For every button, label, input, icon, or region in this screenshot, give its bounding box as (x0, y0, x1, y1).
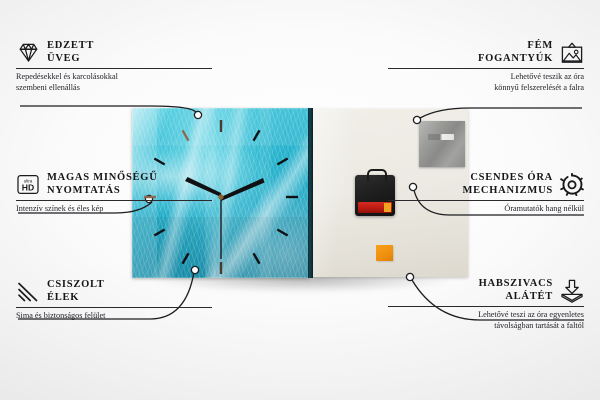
feature-silent-mechanism: CSENDES ÓRA MECHANIZMUS (388, 172, 584, 215)
feature-polished-edges: CSISZOLT ÉLEK Sima és biztonságos felüle… (16, 279, 212, 322)
glass-edge (308, 108, 313, 278)
feature-title: FÉM FOGANTYÚK (478, 40, 553, 65)
battery (358, 202, 392, 213)
feature-title: EDZETT ÜVEG (47, 40, 94, 65)
feature-title: CSENDES ÓRA MECHANIZMUS (462, 172, 553, 197)
feature-head: CSENDES ÓRA MECHANIZMUS (388, 172, 584, 200)
foam-pad (376, 245, 393, 261)
feature-foam-underlay: HABSZIVACS ALÁTÉT Lehetővé teszi az óra … (388, 278, 584, 331)
gear-icon (560, 173, 584, 197)
feature-head: FÉM FOGANTYÚK (388, 40, 584, 68)
diamond-icon (16, 41, 40, 65)
feature-head: EDZETT ÜVEG (16, 40, 212, 68)
feature-head: HABSZIVACS ALÁTÉT (388, 278, 584, 306)
ultra-hd-icon: ultra HD (16, 173, 40, 197)
feature-metal-handles: FÉM FOGANTYÚK Lehetővé teszik az óra kön… (388, 40, 584, 93)
glass-clock-face-panel (132, 108, 310, 278)
hanger-loop (367, 169, 387, 181)
polished-edges-icon (16, 280, 40, 304)
feature-head: CSISZOLT ÉLEK (16, 279, 212, 307)
feature-desc: Sima és biztonságos felület (16, 308, 212, 322)
picture-hanger-icon (560, 41, 584, 65)
infographic-canvas: EDZETT ÜVEG Repedésekkel és karcolásokka… (0, 0, 600, 400)
feature-desc: Óramutatók hang nélkül (388, 201, 584, 215)
feature-desc: Lehetővé teszi az óra egyenletes távolsá… (388, 307, 584, 331)
clock-dial (132, 108, 310, 278)
feature-title: CSISZOLT ÉLEK (47, 279, 105, 304)
feature-desc: Lehetővé teszik az óra könnyű felszerelé… (388, 69, 584, 93)
metal-hanger (419, 121, 465, 167)
feature-tempered-glass: EDZETT ÜVEG Repedésekkel és karcolásokka… (16, 40, 212, 93)
foam-pad-icon (560, 279, 584, 303)
feature-title: HABSZIVACS ALÁTÉT (479, 278, 553, 303)
feature-desc: Repedésekkel és karcolásokkal szembeni e… (16, 69, 212, 93)
svg-text:HD: HD (22, 183, 34, 193)
